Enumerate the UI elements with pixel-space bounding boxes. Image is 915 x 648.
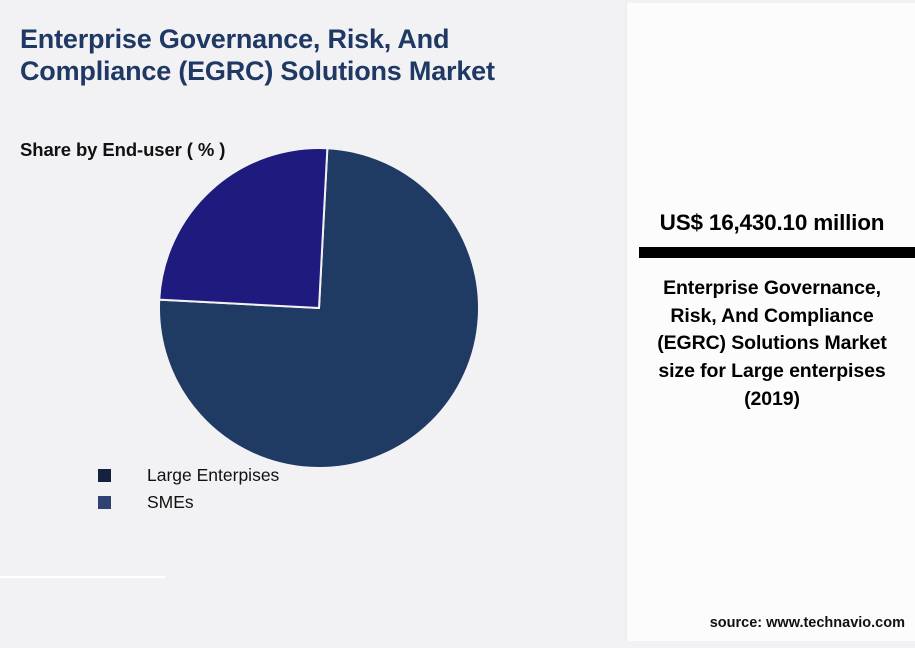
kpi-sidebar: US$ 16,430.10 million Enterprise Governa… bbox=[625, 3, 915, 641]
footer-divider bbox=[0, 576, 165, 578]
legend-item-smes[interactable]: SMEs bbox=[98, 489, 518, 516]
legend-item-label: SMEs bbox=[147, 492, 194, 513]
legend-swatch-icon bbox=[98, 496, 111, 509]
legend-swatch-icon bbox=[98, 469, 111, 482]
kpi-value: US$ 16,430.10 million bbox=[627, 210, 915, 236]
chart-left-panel: Enterprise Governance, Risk, And Complia… bbox=[0, 0, 620, 648]
legend-item-large-enterpises[interactable]: Large Enterpises bbox=[98, 462, 518, 489]
kpi-description: Enterprise Governance, Risk, And Complia… bbox=[639, 275, 905, 413]
pie-chart-svg bbox=[158, 147, 480, 469]
chart-canvas: Enterprise Governance, Risk, And Complia… bbox=[0, 0, 915, 648]
pie-chart bbox=[158, 147, 480, 469]
pie-slice[interactable] bbox=[159, 148, 327, 308]
source-attribution: source: www.technavio.com bbox=[627, 615, 915, 631]
chart-legend: Large Enterpises SMEs bbox=[98, 462, 518, 516]
kpi-divider bbox=[639, 247, 915, 258]
legend-item-label: Large Enterpises bbox=[147, 465, 279, 486]
page-title: Enterprise Governance, Risk, And Complia… bbox=[20, 24, 580, 87]
